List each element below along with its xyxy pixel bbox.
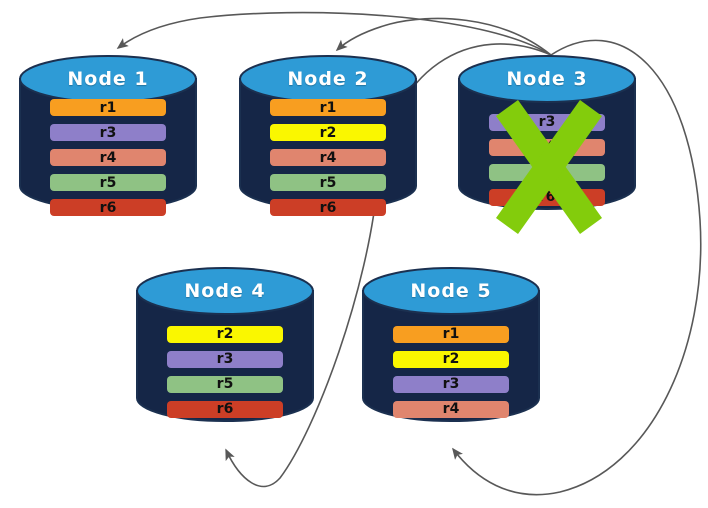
diagram-canvas: Node 1r1r3r4r5r6Node 2r1r2r4r5r6Node 3r3… [0, 0, 708, 508]
shard-label: r1 [320, 101, 337, 115]
failure-x-icon [490, 100, 608, 236]
shard-r5[interactable]: r5 [167, 376, 283, 393]
shard-r2[interactable]: r2 [167, 326, 283, 343]
shard-label: r2 [443, 352, 460, 366]
shard-label: r5 [320, 176, 337, 190]
shard-r1[interactable]: r1 [50, 99, 166, 116]
shard-label: r1 [443, 327, 460, 341]
arrow-node3-to-node2 [337, 18, 551, 55]
node-4[interactable]: Node 4r2r3r5r6 [137, 268, 313, 444]
cylinder-top [240, 56, 416, 102]
node-2[interactable]: Node 2r1r2r4r5r6 [240, 56, 416, 232]
shard-label: r2 [217, 327, 234, 341]
shard-label: r3 [100, 126, 117, 140]
shard-r3[interactable]: r3 [393, 376, 509, 393]
node-3[interactable]: Node 3r3r4r5r6 [459, 56, 635, 232]
shard-r5[interactable]: r5 [270, 174, 386, 191]
shard-label: r6 [217, 402, 234, 416]
shard-label: r6 [100, 201, 117, 215]
shard-label: r6 [320, 201, 337, 215]
shard-label: r4 [443, 402, 460, 416]
shard-r1[interactable]: r1 [270, 99, 386, 116]
node-1[interactable]: Node 1r1r3r4r5r6 [20, 56, 196, 232]
cylinder-top [20, 56, 196, 102]
shard-r2[interactable]: r2 [270, 124, 386, 141]
shard-label: r1 [100, 101, 117, 115]
shard-r6[interactable]: r6 [270, 199, 386, 216]
shard-label: r3 [443, 377, 460, 391]
shard-label: r4 [100, 151, 117, 165]
node-5[interactable]: Node 5r1r2r3r4 [363, 268, 539, 444]
shard-label: r3 [217, 352, 234, 366]
cylinder-top [137, 268, 313, 314]
arrow-node3-to-node1 [118, 13, 551, 55]
shard-r6[interactable]: r6 [50, 199, 166, 216]
shard-label: r4 [320, 151, 337, 165]
shard-r3[interactable]: r3 [50, 124, 166, 141]
shard-r1[interactable]: r1 [393, 326, 509, 343]
shard-label: r5 [100, 176, 117, 190]
cylinder-top [459, 56, 635, 102]
shard-r2[interactable]: r2 [393, 351, 509, 368]
shard-label: r5 [217, 377, 234, 391]
shard-r3[interactable]: r3 [167, 351, 283, 368]
shard-r4[interactable]: r4 [50, 149, 166, 166]
cylinder-top [363, 268, 539, 314]
shard-r4[interactable]: r4 [393, 401, 509, 418]
shard-label: r2 [320, 126, 337, 140]
shard-r5[interactable]: r5 [50, 174, 166, 191]
shard-r4[interactable]: r4 [270, 149, 386, 166]
shard-r6[interactable]: r6 [167, 401, 283, 418]
